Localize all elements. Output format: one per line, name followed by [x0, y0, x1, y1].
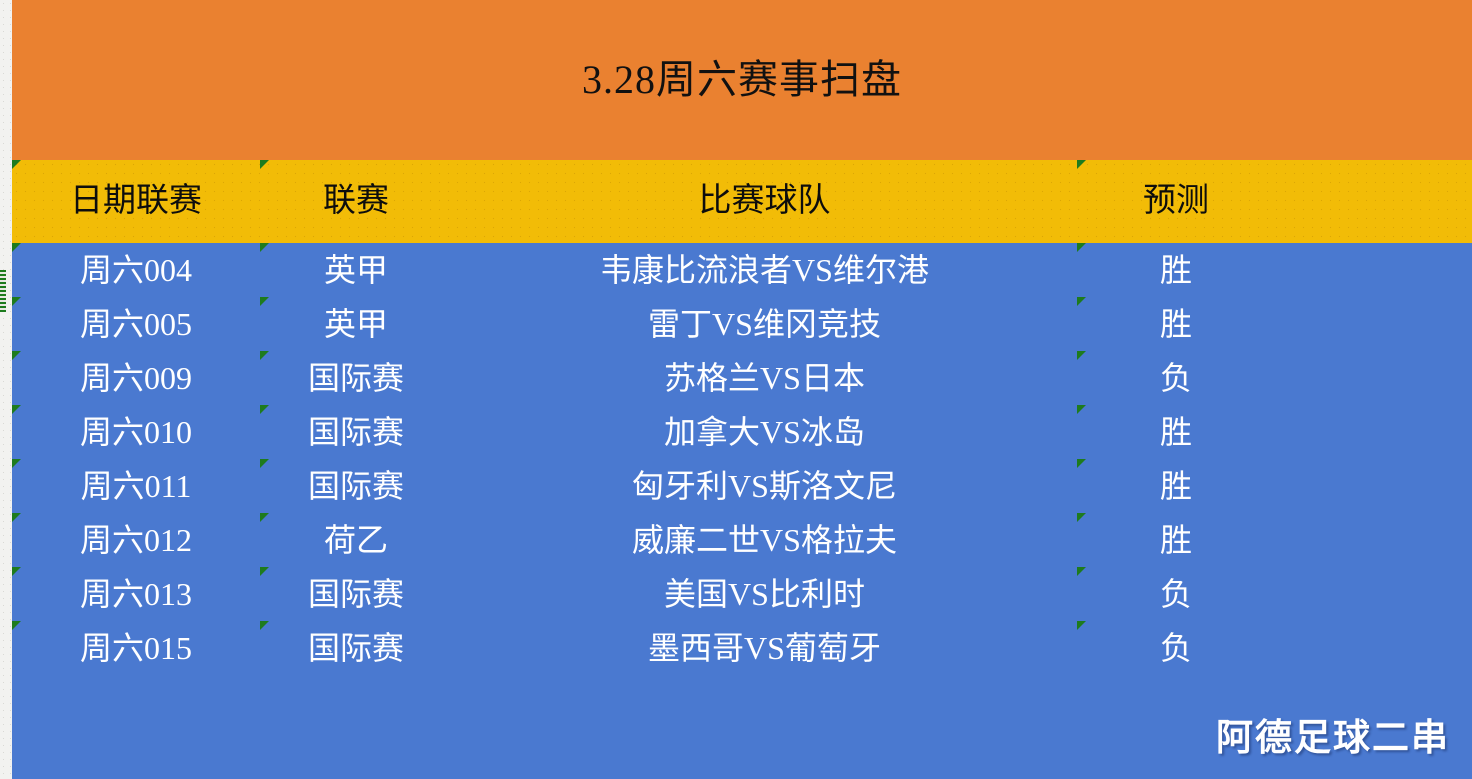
cell-spacer: [1275, 567, 1472, 621]
comment-marker-icon: [12, 621, 21, 630]
comment-marker-icon: [260, 459, 269, 468]
cell-league: 国际赛: [260, 621, 452, 675]
cell-date: 周六013: [12, 567, 260, 621]
cell-match-value: 加拿大VS冰岛: [664, 414, 865, 450]
table-header-row: 日期联赛 联赛 比赛球队 预测: [12, 160, 1472, 243]
cell-spacer: [1275, 459, 1472, 513]
cell-prediction: 胜: [1077, 405, 1275, 459]
comment-marker-icon: [260, 621, 269, 630]
table-row: 周六013 国际赛 美国VS比利时 负: [12, 567, 1472, 621]
comment-marker-icon: [12, 351, 21, 360]
comment-marker-icon: [260, 513, 269, 522]
table-row: 周六005 英甲 雷丁VS维冈竞技 胜: [12, 297, 1472, 351]
title-banner: 3.28周六赛事扫盘: [12, 0, 1472, 160]
table-row: 周六010 国际赛 加拿大VS冰岛 胜: [12, 405, 1472, 459]
cell-date: 周六009: [12, 351, 260, 405]
table-row: 周六012 荷乙 威廉二世VS格拉夫 胜: [12, 513, 1472, 567]
cell-league: 英甲: [260, 243, 452, 297]
table-body: 周六004 英甲 韦康比流浪者VS维尔港 胜 周六005 英甲: [12, 243, 1472, 779]
watermark: 阿德足球二串: [1216, 707, 1450, 761]
cell-prediction: 胜: [1077, 459, 1275, 513]
cell-date: 周六005: [12, 297, 260, 351]
column-header-date-label: 日期联赛: [70, 183, 202, 219]
comment-marker-icon: [260, 405, 269, 414]
comment-marker-icon: [260, 297, 269, 306]
column-header-match: 比赛球队: [452, 160, 1077, 243]
comment-marker-icon: [1077, 567, 1086, 576]
cell-date-value: 周六009: [80, 360, 192, 396]
cell-prediction: 胜: [1077, 243, 1275, 297]
cell-prediction: 负: [1077, 351, 1275, 405]
comment-marker-icon: [12, 297, 21, 306]
page-title: 3.28周六赛事扫盘: [582, 60, 902, 100]
cell-league: 国际赛: [260, 405, 452, 459]
cell-prediction-value: 胜: [1160, 306, 1192, 342]
cell-date-value: 周六005: [80, 306, 192, 342]
cell-prediction-value: 胜: [1160, 468, 1192, 504]
table-row: 周六015 国际赛 墨西哥VS葡萄牙 负: [12, 621, 1472, 675]
cell-spacer: [1275, 297, 1472, 351]
comment-marker-icon: [12, 513, 21, 522]
left-edge-marker: [0, 270, 6, 312]
cell-league: 国际赛: [260, 459, 452, 513]
cell-prediction: 负: [1077, 567, 1275, 621]
cell-league: 英甲: [260, 297, 452, 351]
cell-prediction-value: 负: [1160, 360, 1192, 396]
cell-league-value: 荷乙: [324, 522, 388, 558]
cell-league-value: 国际赛: [308, 360, 404, 396]
cell-match: 墨西哥VS葡萄牙: [452, 621, 1077, 675]
cell-prediction-value: 胜: [1160, 522, 1192, 558]
cell-match: 美国VS比利时: [452, 567, 1077, 621]
cell-spacer: [1275, 405, 1472, 459]
cell-prediction: 负: [1077, 621, 1275, 675]
cell-date: 周六012: [12, 513, 260, 567]
cell-date-value: 周六013: [80, 576, 192, 612]
cell-prediction-value: 负: [1160, 630, 1192, 666]
cell-match-value: 韦康比流浪者VS维尔港: [600, 252, 929, 288]
cell-league-value: 英甲: [324, 306, 388, 342]
cell-match-value: 墨西哥VS葡萄牙: [648, 630, 881, 666]
cell-spacer: [1275, 513, 1472, 567]
cell-match-value: 雷丁VS维冈竞技: [648, 306, 881, 342]
cell-prediction: 胜: [1077, 297, 1275, 351]
cell-league: 荷乙: [260, 513, 452, 567]
cell-date-value: 周六011: [81, 468, 192, 504]
comment-marker-icon: [12, 567, 21, 576]
table-row: 周六011 国际赛 匈牙利VS斯洛文尼 胜: [12, 459, 1472, 513]
table-row: 周六009 国际赛 苏格兰VS日本 负: [12, 351, 1472, 405]
cell-match-value: 苏格兰VS日本: [664, 360, 865, 396]
column-header-prediction-label: 预测: [1143, 183, 1209, 219]
column-header-league-label: 联赛: [323, 183, 389, 219]
cell-prediction-value: 负: [1160, 576, 1192, 612]
table-row: 周六004 英甲 韦康比流浪者VS维尔港 胜: [12, 243, 1472, 297]
column-header-prediction: 预测: [1077, 160, 1275, 243]
comment-marker-icon: [12, 160, 21, 169]
comment-marker-icon: [12, 405, 21, 414]
cell-prediction-value: 胜: [1160, 252, 1192, 288]
cell-match: 韦康比流浪者VS维尔港: [452, 243, 1077, 297]
comment-marker-icon: [1077, 459, 1086, 468]
comment-marker-icon: [1077, 405, 1086, 414]
cell-match-value: 匈牙利VS斯洛文尼: [632, 468, 897, 504]
left-gutter: [0, 0, 12, 779]
comment-marker-icon: [1077, 297, 1086, 306]
cell-match: 雷丁VS维冈竞技: [452, 297, 1077, 351]
cell-league-value: 英甲: [324, 252, 388, 288]
cell-date-value: 周六010: [80, 414, 192, 450]
cell-league: 国际赛: [260, 567, 452, 621]
column-header-match-label: 比赛球队: [699, 183, 831, 219]
cell-date-value: 周六015: [80, 630, 192, 666]
cell-date-value: 周六012: [80, 522, 192, 558]
comment-marker-icon: [12, 459, 21, 468]
comment-marker-icon: [1077, 513, 1086, 522]
comment-marker-icon: [1077, 351, 1086, 360]
cell-league: 国际赛: [260, 351, 452, 405]
cell-league-value: 国际赛: [308, 630, 404, 666]
cell-league-value: 国际赛: [308, 576, 404, 612]
cell-spacer: [1275, 243, 1472, 297]
comment-marker-icon: [1077, 243, 1086, 252]
cell-match: 加拿大VS冰岛: [452, 405, 1077, 459]
prediction-sheet: 3.28周六赛事扫盘 日期联赛 联赛 比赛球队 预测 周六004: [0, 0, 1472, 779]
cell-match: 匈牙利VS斯洛文尼: [452, 459, 1077, 513]
comment-marker-icon: [260, 567, 269, 576]
cell-date: 周六015: [12, 621, 260, 675]
comment-marker-icon: [260, 351, 269, 360]
cell-date-value: 周六004: [80, 252, 192, 288]
comment-marker-icon: [1077, 160, 1086, 169]
cell-match: 苏格兰VS日本: [452, 351, 1077, 405]
column-header-league: 联赛: [260, 160, 452, 243]
cell-spacer: [1275, 351, 1472, 405]
cell-date: 周六011: [12, 459, 260, 513]
comment-marker-icon: [260, 160, 269, 169]
comment-marker-icon: [12, 243, 21, 252]
comment-marker-icon: [1077, 621, 1086, 630]
comment-marker-icon: [260, 243, 269, 252]
cell-prediction-value: 胜: [1160, 414, 1192, 450]
cell-league-value: 国际赛: [308, 414, 404, 450]
cell-prediction: 胜: [1077, 513, 1275, 567]
cell-date: 周六010: [12, 405, 260, 459]
cell-date: 周六004: [12, 243, 260, 297]
column-header-spacer: [1275, 160, 1472, 243]
cell-match-value: 美国VS比利时: [664, 576, 865, 612]
cell-match: 威廉二世VS格拉夫: [452, 513, 1077, 567]
cell-match-value: 威廉二世VS格拉夫: [632, 522, 897, 558]
cell-league-value: 国际赛: [308, 468, 404, 504]
column-header-date: 日期联赛: [12, 160, 260, 243]
cell-spacer: [1275, 621, 1472, 675]
